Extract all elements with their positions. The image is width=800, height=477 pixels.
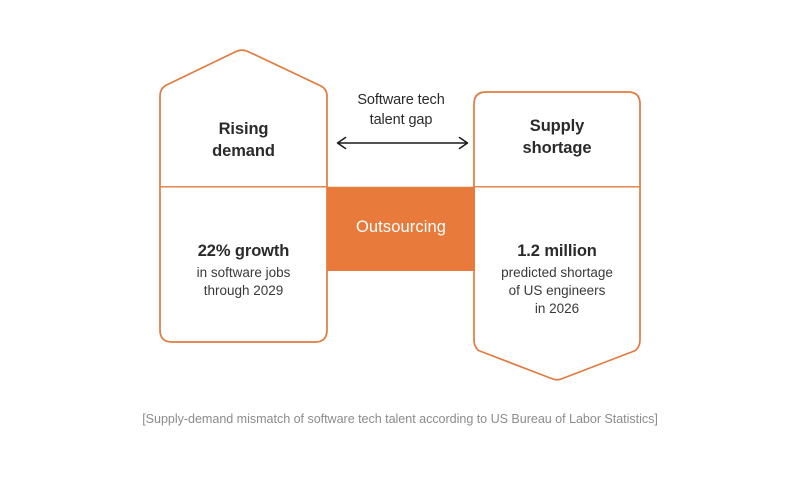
right-stat-value: 1.2 million	[474, 241, 640, 263]
diagram-graphics	[0, 0, 800, 477]
talent-gap-double-arrow	[338, 138, 468, 149]
left-shape-heading: Rising demand	[160, 119, 327, 163]
left-stat-sub-line-2: through 2029	[160, 282, 327, 300]
talent-gap-label: Software tech talent gap	[327, 90, 475, 130]
left-shape-stat: 22% growth in software jobs through 2029	[160, 241, 327, 300]
talent-gap-label-line-2: talent gap	[327, 110, 475, 130]
left-heading-line-1: Rising	[160, 119, 327, 141]
right-stat-sub-line-1: predicted shortage	[474, 264, 640, 282]
talent-gap-label-line-1: Software tech	[327, 90, 475, 110]
outsourcing-label: Outsourcing	[327, 218, 475, 237]
left-heading-line-2: demand	[160, 141, 327, 163]
right-heading-line-2: shortage	[474, 138, 640, 160]
left-stat-value: 22% growth	[160, 241, 327, 263]
right-shape-stat: 1.2 million predicted shortage of US eng…	[474, 241, 640, 317]
right-stat-sub-line-3: in 2026	[474, 300, 640, 318]
right-stat-sub-line-2: of US engineers	[474, 282, 640, 300]
left-stat-sub-line-1: in software jobs	[160, 264, 327, 282]
diagram-canvas: Rising demand 22% growth in software job…	[0, 0, 800, 477]
figure-caption: [Supply-demand mismatch of software tech…	[0, 412, 800, 426]
right-heading-line-1: Supply	[474, 116, 640, 138]
right-shape-heading: Supply shortage	[474, 116, 640, 160]
